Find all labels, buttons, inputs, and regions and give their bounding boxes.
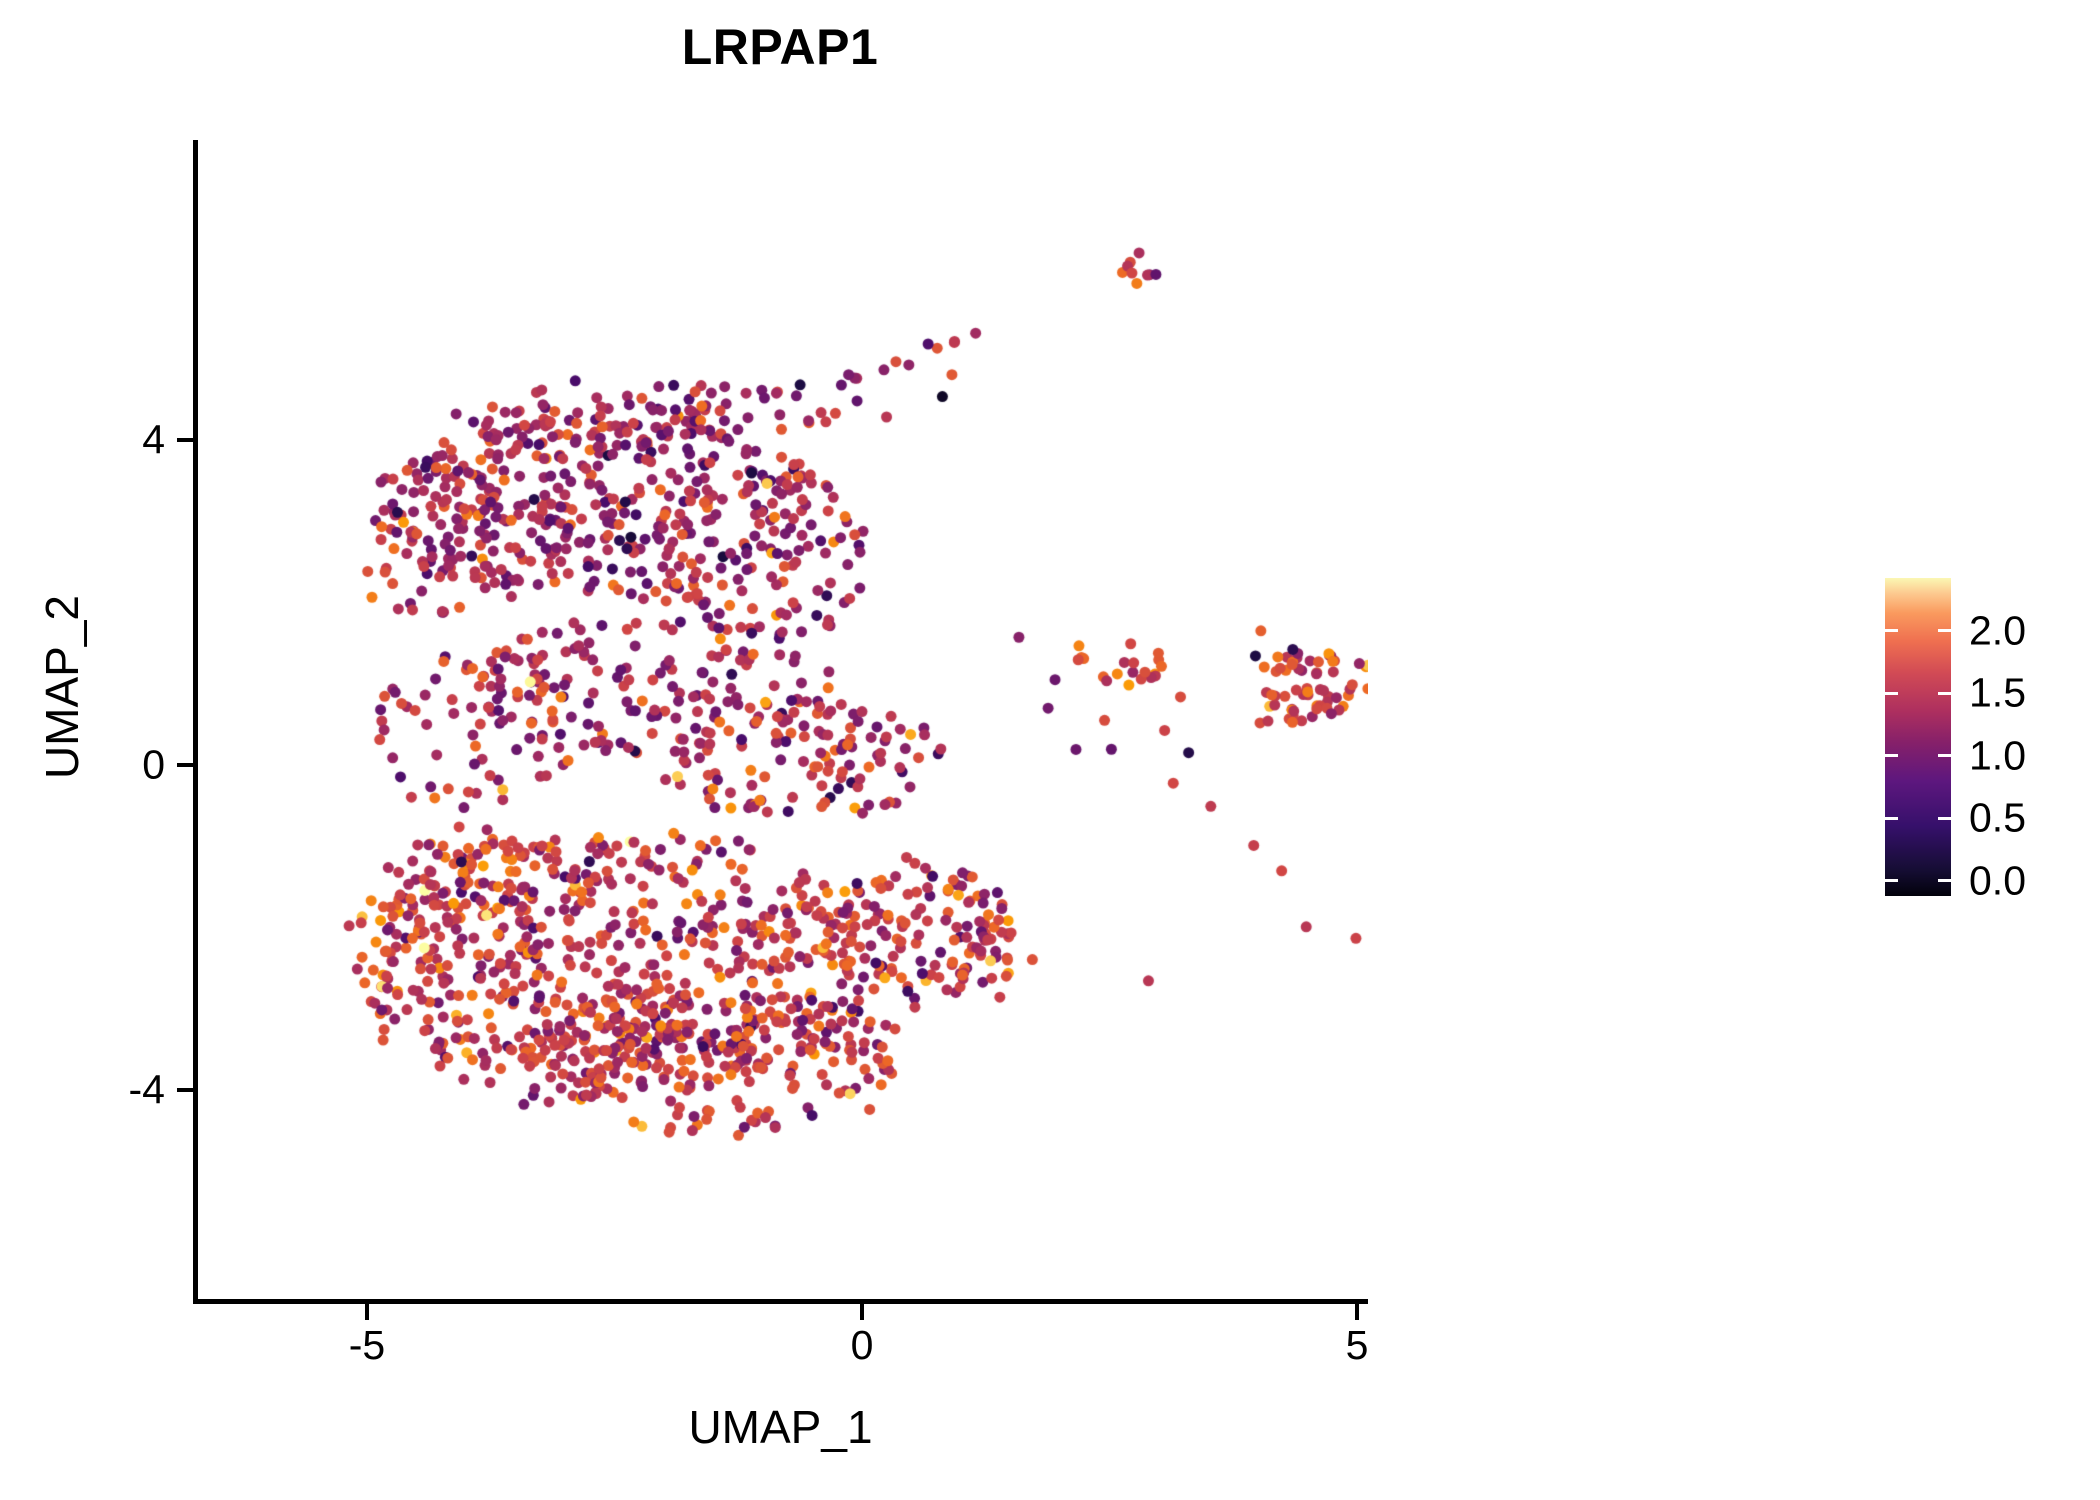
colorbar-tick-label: 1.5 bbox=[1969, 670, 2026, 717]
y-tick-label: 0 bbox=[142, 742, 165, 789]
x-tick-label: 5 bbox=[1346, 1322, 1369, 1369]
colorbar-tick bbox=[1938, 754, 1951, 757]
umap-feature-plot: LRPAP1 -505 -404 UMAP_1 UMAP_2 0.00.51.0… bbox=[0, 0, 2100, 1500]
y-tick-mark bbox=[177, 763, 193, 767]
page-title: LRPAP1 bbox=[0, 18, 1560, 76]
x-axis-title: UMAP_1 bbox=[193, 1400, 1368, 1454]
x-tick-mark bbox=[860, 1304, 864, 1320]
x-tick-mark bbox=[365, 1304, 369, 1320]
x-tick-mark bbox=[1355, 1304, 1359, 1320]
colorbar-tick bbox=[1885, 754, 1898, 757]
colorbar-tick-label: 1.0 bbox=[1969, 732, 2026, 779]
x-axis-line bbox=[193, 1299, 1368, 1304]
colorbar-tick-label: 2.0 bbox=[1969, 607, 2026, 654]
colorbar-tick bbox=[1938, 879, 1951, 882]
x-tick-label: 0 bbox=[851, 1322, 874, 1369]
colorbar-tick bbox=[1885, 879, 1898, 882]
colorbar-tick bbox=[1938, 692, 1951, 695]
x-tick-label: -5 bbox=[349, 1322, 385, 1369]
y-axis-title: UMAP_2 bbox=[35, 105, 89, 1269]
colorbar-tick bbox=[1885, 817, 1898, 820]
y-tick-label: 4 bbox=[142, 417, 165, 464]
colorbar-tick bbox=[1885, 629, 1898, 632]
y-tick-mark bbox=[177, 438, 193, 442]
y-tick-label: -4 bbox=[129, 1067, 165, 1114]
colorbar-tick bbox=[1885, 692, 1898, 695]
colorbar-legend bbox=[1885, 578, 1951, 896]
scatter-points-layer bbox=[198, 140, 1368, 1299]
colorbar-gradient bbox=[1885, 578, 1951, 896]
plot-panel bbox=[198, 140, 1368, 1299]
colorbar-tick bbox=[1938, 629, 1951, 632]
y-axis-line bbox=[193, 140, 198, 1304]
colorbar-tick-label: 0.5 bbox=[1969, 795, 2026, 842]
colorbar-tick-label: 0.0 bbox=[1969, 857, 2026, 904]
y-tick-mark bbox=[177, 1088, 193, 1092]
colorbar-tick bbox=[1938, 817, 1951, 820]
